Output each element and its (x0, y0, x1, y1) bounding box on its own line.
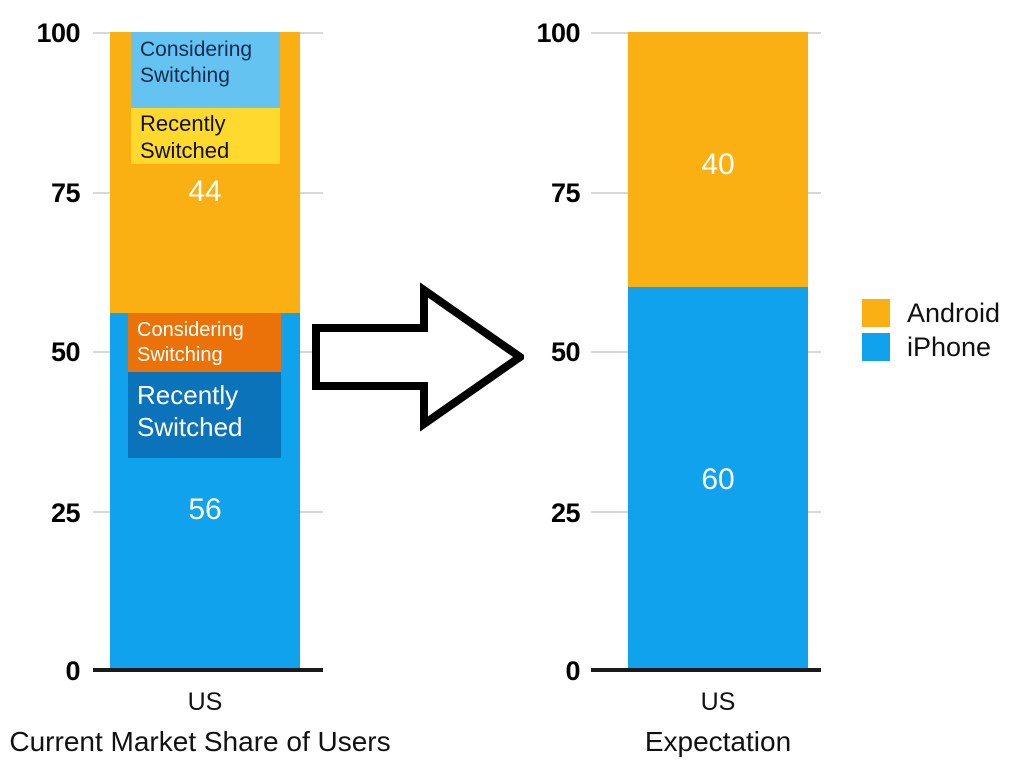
annotation-line-2: Switched (140, 137, 271, 164)
legend-item-iphone[interactable]: iPhone (862, 330, 1000, 364)
left-category-label-us: US (110, 690, 300, 715)
right-ytick-0: 0 (510, 658, 580, 685)
annotation-line-1: Considering (137, 318, 272, 343)
right-ytick-100: 100 (510, 20, 580, 47)
annotation-iphone-considering-switching[interactable]: Considering Switching (128, 313, 281, 372)
right-chart-caption: Expectation (558, 727, 878, 757)
right-ytick-50: 50 (510, 339, 580, 366)
left-ytick-75: 75 (10, 180, 80, 207)
left-axis-baseline (93, 668, 323, 672)
right-axis-baseline (591, 668, 821, 672)
annotation-line-2: Switching (137, 343, 272, 368)
right-bar-value-android: 40 (628, 150, 808, 180)
left-chart-caption: Current Market Share of Users (0, 727, 400, 757)
legend-swatch-iphone (862, 333, 890, 361)
arrow-right-icon (312, 282, 524, 432)
right-ytick-25: 25 (510, 500, 580, 527)
right-category-label-us: US (628, 690, 808, 715)
right-bar-value-iphone: 60 (628, 465, 808, 495)
annotation-line-2: Switching (140, 63, 271, 89)
annotation-line-1: Recently (137, 379, 272, 411)
transition-arrow (312, 282, 524, 432)
left-ytick-100: 100 (10, 20, 80, 47)
right-ytick-75: 75 (510, 180, 580, 207)
legend-label-android: Android (907, 300, 1000, 327)
annotation-iphone-recently-switched[interactable]: Recently Switched (128, 372, 281, 458)
right-bar-segment-android[interactable]: 40 (628, 32, 808, 287)
legend-label-iphone: iPhone (907, 334, 991, 361)
annotation-line-1: Considering (140, 37, 271, 63)
legend-swatch-android (862, 299, 890, 327)
left-bar-value-android: 44 (110, 177, 300, 207)
right-bar-segment-iphone[interactable]: 60 (628, 287, 808, 670)
left-bar-value-iphone: 56 (110, 495, 300, 525)
right-chart-panel: 100 75 50 25 0 40 60 US Expectation (500, 0, 860, 780)
left-ytick-0: 0 (10, 658, 80, 685)
chart-canvas: 100 75 50 25 0 44 56 Considering Switchi… (0, 0, 1024, 780)
annotation-line-2: Switched (137, 411, 272, 443)
left-ytick-25: 25 (10, 500, 80, 527)
annotation-android-recently-switched[interactable]: Recently Switched (131, 108, 280, 164)
legend-item-android[interactable]: Android (862, 296, 1000, 330)
left-ytick-50: 50 (10, 339, 80, 366)
annotation-line-1: Recently (140, 110, 271, 137)
legend: Android iPhone (862, 296, 1000, 364)
annotation-android-considering-switching[interactable]: Considering Switching (131, 32, 280, 108)
